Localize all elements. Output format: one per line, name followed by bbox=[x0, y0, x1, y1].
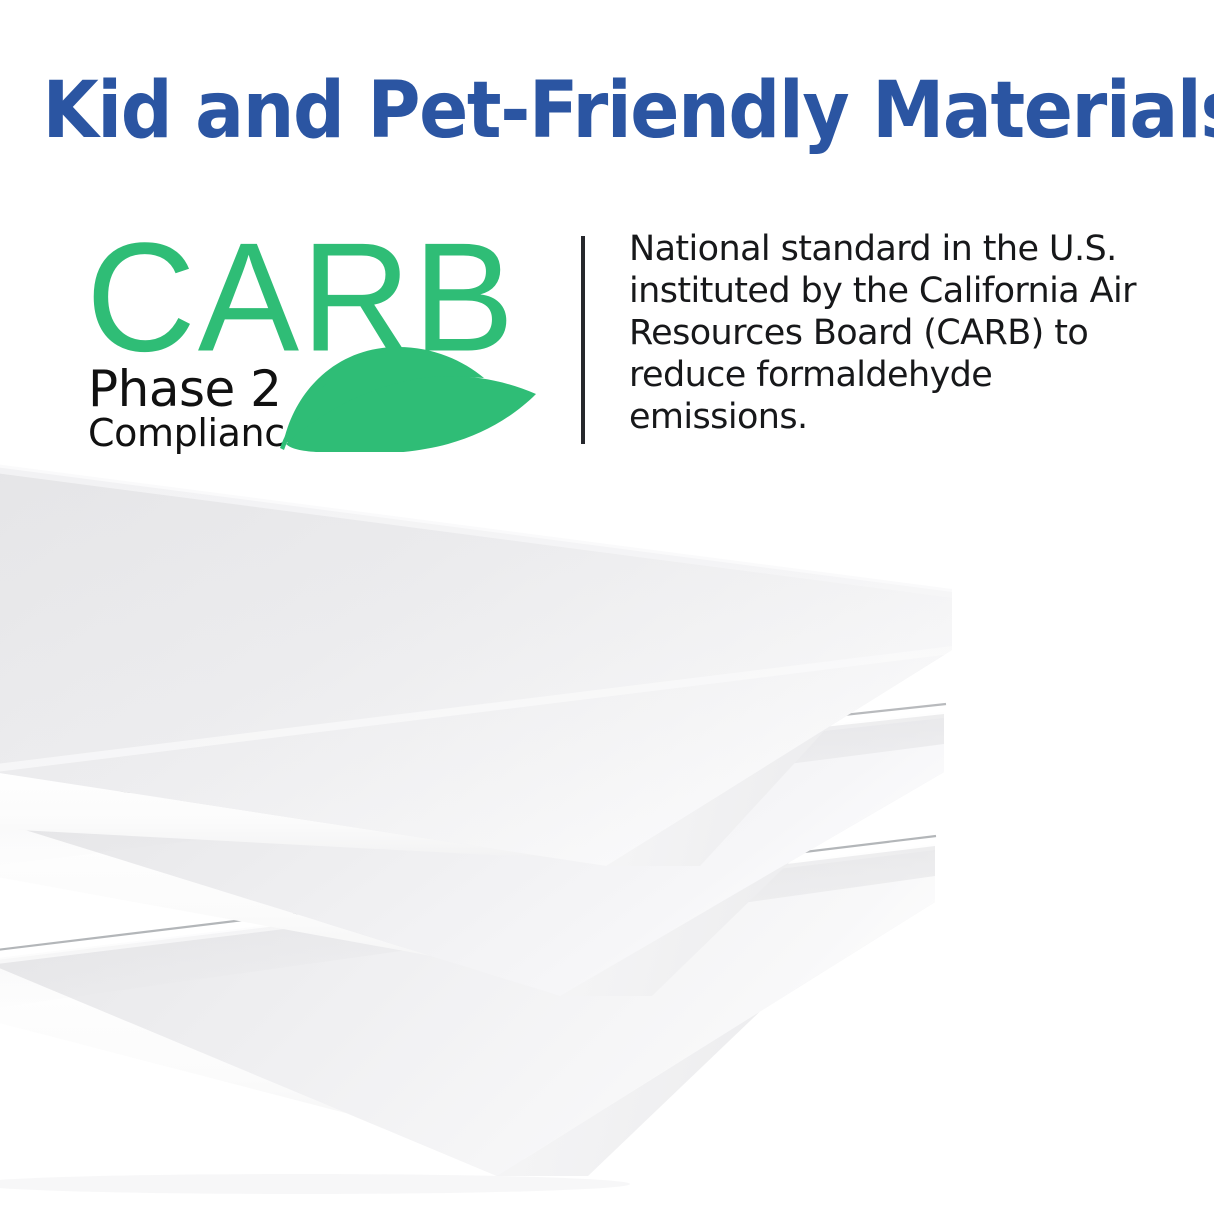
board-stack-illustration bbox=[0, 440, 1214, 1214]
vertical-divider bbox=[581, 236, 585, 444]
carb-phase-label: Phase 2 bbox=[88, 362, 282, 416]
product-image bbox=[0, 440, 1214, 1214]
carb-wordmark: CARB bbox=[86, 220, 516, 375]
description-text: National standard in the U.S. instituted… bbox=[629, 228, 1149, 438]
product-feature-graphic: Kid and Pet-Friendly Materials CARB Phas… bbox=[0, 0, 1214, 1214]
page-title: Kid and Pet-Friendly Materials bbox=[42, 72, 1171, 150]
carb-compliance-badge: CARB Phase 2 Compliance bbox=[86, 220, 556, 450]
